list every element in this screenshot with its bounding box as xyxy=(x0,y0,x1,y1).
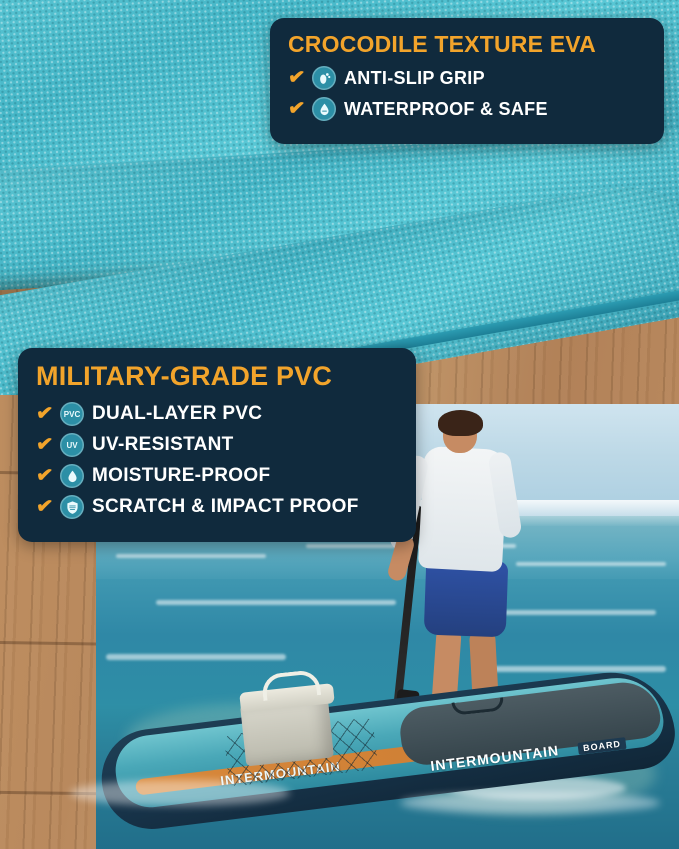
feature-label: UV-RESISTANT xyxy=(92,434,234,456)
paddle-board: INTERMOUNTAIN INTERMOUNTAIN BOARD xyxy=(100,660,675,820)
wave xyxy=(156,600,396,605)
check-icon: ✔ xyxy=(35,496,61,518)
feature-row: ✔ MOISTURE-PROOF xyxy=(36,464,398,488)
feature-row: ✔ UV UV-RESISTANT xyxy=(36,433,398,457)
pvc-badge-label: PVC xyxy=(64,410,80,419)
pvc-badge-icon: PVC xyxy=(60,402,84,426)
water-drop-icon xyxy=(312,97,336,121)
callout-panel-pvc: MILITARY-GRADE PVC ✔ PVC DUAL-LAYER PVC … xyxy=(18,348,416,542)
rider-hair xyxy=(438,410,483,436)
shield-icon xyxy=(60,495,84,519)
wave xyxy=(116,554,266,558)
check-icon: ✔ xyxy=(35,434,61,456)
panel-title-eva: CROCODILE TEXTURE EVA xyxy=(288,32,646,56)
uv-badge-icon: UV xyxy=(60,433,84,457)
feature-row: ✔ ANTI-SLIP GRIP xyxy=(288,66,646,90)
check-icon: ✔ xyxy=(35,465,61,487)
footprint-icon xyxy=(312,66,336,90)
feature-label: MOISTURE-PROOF xyxy=(92,465,270,487)
feature-row: ✔ WATERPROOF & SAFE xyxy=(288,97,646,121)
feature-label: WATERPROOF & SAFE xyxy=(344,99,548,120)
board-wake xyxy=(70,780,290,806)
panel-title-pvc: MILITARY-GRADE PVC xyxy=(36,362,398,390)
check-icon: ✔ xyxy=(287,98,313,120)
feature-label: ANTI-SLIP GRIP xyxy=(344,68,485,89)
uv-badge-label: UV xyxy=(66,441,77,450)
feature-label: SCRATCH & IMPACT PROOF xyxy=(92,496,359,518)
product-image: INTERMOUNTAIN INTERMOUNTAIN BOARD CROCOD… xyxy=(0,0,679,849)
wave xyxy=(516,562,666,566)
callout-panel-eva: CROCODILE TEXTURE EVA ✔ ANTI-SLIP GRIP ✔ xyxy=(270,18,664,144)
moisture-drop-icon xyxy=(60,464,84,488)
check-icon: ✔ xyxy=(35,403,61,425)
feature-row: ✔ PVC DUAL-LAYER PVC xyxy=(36,402,398,426)
board-wake xyxy=(400,792,660,814)
check-icon: ✔ xyxy=(287,67,313,89)
feature-label: DUAL-LAYER PVC xyxy=(92,403,262,425)
feature-row: ✔ SCRATCH & IMPACT PROOF xyxy=(36,495,398,519)
